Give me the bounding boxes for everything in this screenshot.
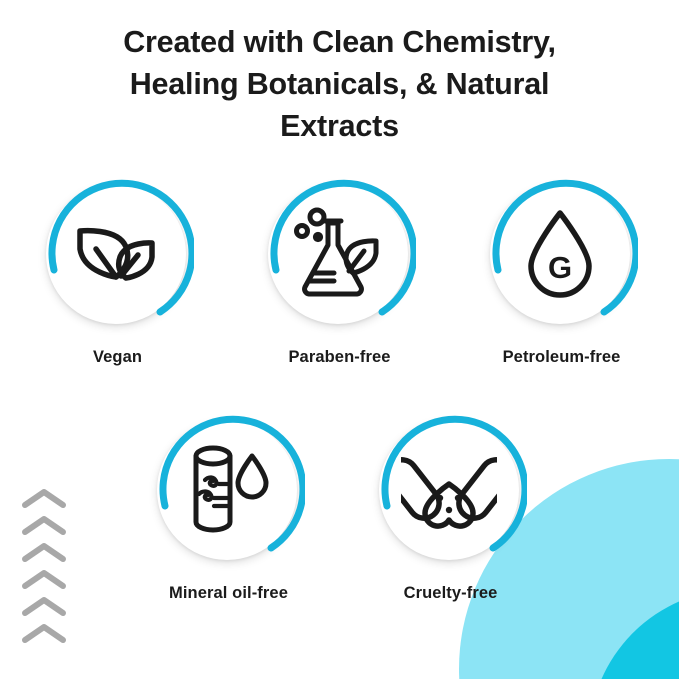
badge-label: Paraben-free bbox=[288, 348, 390, 367]
badge-circle bbox=[375, 414, 527, 566]
chevron-up-icon bbox=[20, 568, 68, 591]
droplet-letter: G bbox=[547, 250, 571, 285]
badge-row-2: Mineral oil-free bbox=[0, 414, 679, 603]
badge-label: Mineral oil-free bbox=[169, 584, 288, 603]
page-title-line-2: Healing Botanicals, & Natural bbox=[28, 64, 651, 106]
badge-circle: G bbox=[486, 178, 638, 330]
chevron-up-icon bbox=[20, 622, 68, 645]
droplet-g-icon: G bbox=[490, 184, 630, 324]
chevron-up-icon bbox=[20, 514, 68, 537]
chevron-up-stack bbox=[20, 487, 68, 645]
badge-label: Petroleum-free bbox=[503, 348, 621, 367]
chevron-up-icon bbox=[20, 595, 68, 618]
badge-label: Cruelty-free bbox=[404, 584, 498, 603]
badge-vegan[interactable]: Vegan bbox=[38, 178, 198, 367]
badge-circle bbox=[264, 178, 416, 330]
leaves-icon bbox=[46, 184, 186, 324]
badge-circle bbox=[153, 414, 305, 566]
bunny-icon bbox=[379, 420, 519, 560]
bunny-nose bbox=[445, 507, 451, 513]
infographic-page: Created with Clean Chemistry, Healing Bo… bbox=[0, 0, 679, 679]
chevron-up-icon bbox=[20, 541, 68, 564]
badge-cruelty-free[interactable]: Cruelty-free bbox=[371, 414, 531, 603]
badge-paraben-free[interactable]: Paraben-free bbox=[260, 178, 420, 367]
badge-label: Vegan bbox=[93, 348, 142, 367]
chevron-up-icon bbox=[20, 487, 68, 510]
bunny-eye-right bbox=[454, 495, 460, 501]
badge-mineral-oil-free[interactable]: Mineral oil-free bbox=[149, 414, 309, 603]
page-title-line-3: Extracts bbox=[28, 106, 651, 148]
test-tube-droplet-icon bbox=[157, 420, 297, 560]
badge-row-1: Vegan bbox=[0, 178, 679, 367]
bunny-eye-left bbox=[436, 495, 442, 501]
flask-leaf-icon bbox=[268, 184, 408, 324]
badge-petroleum-free[interactable]: G Petroleum-free bbox=[482, 178, 642, 367]
badge-circle bbox=[42, 178, 194, 330]
page-title: Created with Clean Chemistry, Healing Bo… bbox=[0, 22, 679, 147]
page-title-line-1: Created with Clean Chemistry, bbox=[28, 22, 651, 64]
